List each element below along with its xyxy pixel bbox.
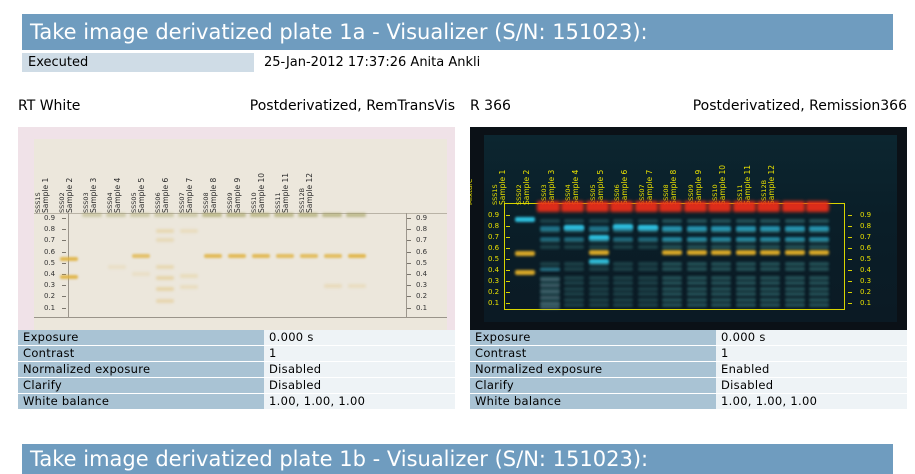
rf-tick-label: 0.3: [860, 278, 871, 285]
lane-name: Sample 10: [719, 149, 727, 205]
plate-band: [564, 267, 584, 271]
report-page: Take image derivatized plate 1a - Visual…: [0, 0, 915, 474]
plate-band: [156, 229, 174, 233]
plate-band: [564, 219, 584, 223]
plate-band: [515, 217, 535, 222]
plate-band: [760, 281, 780, 285]
parameter-value: 0.000 s: [716, 330, 907, 345]
rf-tick-label: 0.5: [416, 260, 427, 267]
plate-band: [711, 237, 731, 241]
plate-band: [711, 267, 731, 271]
rf-tick-label: 0.9: [416, 215, 427, 222]
rf-tick-mark: [407, 218, 411, 219]
plate-band: [809, 267, 829, 271]
plate-band: [687, 276, 707, 280]
plate-band: [736, 237, 756, 241]
table-row: White balance1.00, 1.00, 1.00: [470, 394, 907, 409]
panel-header-right: R 366 Postderivatized, Remission366: [470, 98, 907, 120]
plate-band: [132, 254, 150, 258]
plate-band: [760, 262, 780, 266]
plate-band: [736, 226, 756, 231]
plate-band-strip: [635, 201, 658, 212]
rf-tick-label: 0.5: [860, 256, 871, 263]
parameter-table-rt-white: Exposure0.000 sContrast1Normalized expos…: [18, 330, 455, 410]
plate-band-strip: [274, 213, 294, 217]
plate-band: [540, 226, 560, 231]
table-row: ClarifyDisabled: [470, 378, 907, 393]
rf-tick-label: 0.6: [860, 245, 871, 252]
plate-band: [785, 250, 805, 255]
rf-tick-label: 0.1: [488, 300, 499, 307]
plate-band: [589, 298, 609, 302]
plate-band: [662, 292, 682, 296]
plate-band: [687, 292, 707, 296]
plate-band: [687, 303, 707, 307]
rf-tick-mark: [407, 263, 411, 264]
plate-band: [687, 281, 707, 285]
plate-band: [736, 219, 756, 223]
plate-bottom-line: [34, 317, 447, 318]
plate-band: [785, 267, 805, 271]
plate-band: [613, 237, 633, 241]
rf-tick-label: 0.9: [488, 212, 499, 219]
plate-band: [324, 284, 342, 288]
rf-tick-mark: [407, 308, 411, 309]
parameter-value: 1: [264, 346, 455, 361]
plate-band: [711, 287, 731, 291]
plate-band: [540, 306, 560, 309]
rf-tick-mark: [506, 270, 510, 271]
plate-image-r366[interactable]: MixtureSSS1SSample 1SSS02Sample 2SSS03Sa…: [470, 127, 907, 340]
plate-band: [785, 237, 805, 241]
rf-tick-label: 0.6: [488, 245, 499, 252]
plate-band: [785, 262, 805, 266]
plate-band: [540, 284, 560, 287]
status-badge: Executed: [22, 53, 254, 72]
plate-band: [589, 303, 609, 307]
plate-band: [156, 287, 174, 291]
panel-mode-label: RT White: [18, 98, 80, 114]
plate-band: [156, 265, 174, 269]
lane-label-sample-12: SSS12BSample 12: [298, 157, 354, 213]
plate-band: [564, 281, 584, 285]
plate-band: [589, 276, 609, 280]
lane-name: Sample 12: [306, 157, 314, 213]
plate-band: [736, 267, 756, 271]
parameter-name: Contrast: [18, 346, 264, 361]
plate-band: [60, 275, 78, 279]
plate-band: [613, 226, 633, 231]
parameter-name: White balance: [18, 394, 264, 409]
rf-tick-label: 0.7: [44, 237, 55, 244]
parameter-name: White balance: [470, 394, 716, 409]
plate-band-strip: [610, 201, 633, 212]
plate-band: [809, 245, 829, 249]
plate-band: [564, 287, 584, 291]
table-row: Normalized exposureDisabled: [18, 362, 455, 377]
plate-band: [736, 292, 756, 296]
rf-tick-label: 0.1: [860, 300, 871, 307]
parameter-value: 1.00, 1.00, 1.00: [264, 394, 455, 409]
plate-band: [638, 281, 658, 285]
plate-band: [711, 281, 731, 285]
plate-band: [760, 276, 780, 280]
panel-r366: R 366 Postderivatized, Remission366 Mixt…: [470, 98, 907, 340]
lane-name: Sample 2: [66, 157, 74, 213]
plate-band: [252, 254, 270, 258]
rf-tick-label: 0.4: [416, 271, 427, 278]
plate-band: [589, 226, 609, 231]
lane-name: Sample 5: [597, 149, 605, 205]
section-title-plate-1b: Take image derivatized plate 1b - Visual…: [22, 444, 893, 474]
plate-band: [662, 226, 682, 231]
rf-tick-mark: [506, 215, 510, 216]
lane-name: Sample 4: [114, 157, 122, 213]
rf-tick-mark: [62, 240, 66, 241]
plate-band: [687, 267, 707, 271]
plate-band: [662, 267, 682, 271]
plate-band: [638, 287, 658, 291]
plate-band: [785, 292, 805, 296]
rf-tick-mark: [848, 215, 852, 216]
lane-name: Sample 5: [138, 157, 146, 213]
plate-band: [589, 281, 609, 285]
parameter-name: Exposure: [18, 330, 264, 345]
plate-band: [564, 303, 584, 307]
plate-band: [613, 303, 633, 307]
plate-band: [662, 245, 682, 249]
plate-band: [564, 226, 584, 231]
rf-tick-label: 0.4: [488, 267, 499, 274]
lane-name: Sample 12: [768, 149, 776, 205]
plate-band: [589, 262, 609, 266]
plate-band: [564, 298, 584, 302]
plate-band: [540, 290, 560, 293]
lane-name: Mixture: [470, 149, 474, 205]
plate-band: [540, 268, 560, 271]
rf-tick-mark: [62, 218, 66, 219]
plate-band: [809, 262, 829, 266]
status-row: Executed 25-Jan-2012 17:37:26 Anita Ankl…: [22, 53, 893, 72]
plate-band: [785, 281, 805, 285]
plate-band-strip: [561, 201, 584, 212]
parameter-value: 1.00, 1.00, 1.00: [716, 394, 907, 409]
plate-band: [180, 274, 198, 278]
rf-tick-label: 0.8: [488, 223, 499, 230]
parameter-name: Clarify: [18, 378, 264, 393]
lane-name: Sample 9: [695, 149, 703, 205]
plate-band-strip: [130, 213, 150, 217]
plate-band: [132, 272, 150, 276]
rf-tick-label: 0.5: [488, 256, 499, 263]
plate-band: [760, 267, 780, 271]
rf-tick-mark: [506, 292, 510, 293]
plate-band: [662, 298, 682, 302]
rf-tick-label: 0.4: [860, 267, 871, 274]
plate-band: [662, 281, 682, 285]
plate-band-strip: [684, 201, 707, 212]
plate-band: [687, 219, 707, 223]
plate-band: [638, 303, 658, 307]
lane-name: Sample 10: [258, 157, 266, 213]
plate-band: [736, 276, 756, 280]
rf-tick-label: 0.2: [44, 293, 55, 300]
rf-tick-label: 0.1: [416, 305, 427, 312]
lane-name: Sample 8: [210, 157, 218, 213]
plate-band: [785, 276, 805, 280]
rf-tick-mark: [62, 263, 66, 264]
plate-band: [785, 226, 805, 231]
panel-header-left: RT White Postderivatized, RemTransVis: [18, 98, 455, 120]
rf-tick-mark: [848, 281, 852, 282]
plate-band: [785, 219, 805, 223]
plate-band: [613, 281, 633, 285]
plate-band: [760, 219, 780, 223]
plate-band: [613, 267, 633, 271]
plate-band: [736, 303, 756, 307]
plate-band: [638, 292, 658, 296]
plate-band: [276, 254, 294, 258]
plate-band-strip: [757, 201, 780, 212]
plate-band: [711, 226, 731, 231]
plate-band: [760, 287, 780, 291]
plate-band: [515, 251, 535, 256]
plate-band-strip: [202, 213, 222, 217]
table-row: Contrast1: [18, 346, 455, 361]
rf-tick-label: 0.9: [860, 212, 871, 219]
plate-band: [760, 237, 780, 241]
rf-tick-label: 0.2: [860, 289, 871, 296]
plate-band: [638, 262, 658, 266]
plate-band: [711, 250, 731, 255]
lane-label-sample-12: SSS12BSample 12: [760, 149, 816, 205]
lane-name: Sample 2: [523, 149, 531, 205]
plate-band-strip: [154, 213, 174, 217]
plate-band: [760, 250, 780, 255]
plate-band: [687, 298, 707, 302]
plate-band: [687, 262, 707, 266]
rf-tick-label: 0.2: [416, 293, 427, 300]
rf-tick-label: 0.4: [44, 271, 55, 278]
rf-tick-mark: [848, 237, 852, 238]
plate-band-strip: [82, 213, 102, 217]
plate-band-strip: [250, 213, 270, 217]
plate-band: [711, 219, 731, 223]
plate-band: [711, 303, 731, 307]
parameter-table-r366: Exposure0.000 sContrast1Normalized expos…: [470, 330, 907, 410]
plate-band: [180, 285, 198, 289]
plate-band: [540, 262, 560, 266]
rf-tick-mark: [506, 248, 510, 249]
plate-band: [589, 237, 609, 241]
rf-tick-label: 0.6: [44, 249, 55, 256]
lane-name: Sample 1: [42, 157, 50, 213]
rf-tick-mark: [848, 303, 852, 304]
plate-band: [809, 226, 829, 231]
plate-band: [662, 287, 682, 291]
plate-band: [540, 245, 560, 249]
plate-band: [785, 303, 805, 307]
rf-tick-mark: [506, 281, 510, 282]
plate-band: [760, 226, 780, 231]
plate-band: [736, 262, 756, 266]
plate-band: [711, 292, 731, 296]
plate-band-strip: [322, 213, 342, 217]
plate-band: [785, 245, 805, 249]
rf-tick-label: 0.8: [416, 226, 427, 233]
plate-band: [180, 229, 198, 233]
plate-band: [736, 287, 756, 291]
plate-image-rt-white[interactable]: MixtureSSS1SSample 1SSS02Sample 2SSS03Sa…: [18, 127, 455, 340]
rf-tick-label: 0.5: [44, 260, 55, 267]
panel-mode-label: R 366: [470, 98, 511, 114]
lane-name: Sample 4: [572, 149, 580, 205]
plate-band: [540, 278, 560, 281]
rf-tick-mark: [506, 226, 510, 227]
plate-band: [662, 237, 682, 241]
plate-band-strip: [226, 213, 246, 217]
plate-band: [687, 226, 707, 231]
plate-band: [540, 302, 560, 305]
rf-tick-label: 0.6: [416, 249, 427, 256]
plate-band: [613, 219, 633, 223]
plate-band-strip: [537, 201, 560, 212]
plate-band: [589, 250, 609, 255]
panel-description-label: Postderivatized, Remission366: [693, 98, 907, 114]
parameter-name: Normalized exposure: [18, 362, 264, 377]
rf-tick-label: 0.7: [416, 237, 427, 244]
rf-tick-mark: [62, 308, 66, 309]
plate-band-strip: [178, 213, 198, 217]
plate-band: [589, 219, 609, 223]
plate-band: [156, 238, 174, 242]
rf-tick-mark: [407, 296, 411, 297]
plate-band: [348, 284, 366, 288]
lane-name: Sample 7: [646, 149, 654, 205]
plate-band: [662, 276, 682, 280]
plate-band: [108, 265, 126, 269]
plate-band: [736, 245, 756, 249]
rf-tick-mark: [848, 259, 852, 260]
plate-band: [540, 219, 560, 223]
plate-band: [736, 281, 756, 285]
lane-name: Sample 6: [621, 149, 629, 205]
rf-tick-mark: [407, 274, 411, 275]
rf-tick-mark: [407, 240, 411, 241]
table-row: ClarifyDisabled: [18, 378, 455, 393]
rf-tick-mark: [62, 296, 66, 297]
parameter-name: Normalized exposure: [470, 362, 716, 377]
plate-band: [760, 298, 780, 302]
plate-band: [589, 245, 609, 249]
plate-band-strip: [733, 201, 756, 212]
plate-band-strip: [586, 201, 609, 212]
lane-name: Sample 3: [90, 157, 98, 213]
panel-rt-white: RT White Postderivatized, RemTransVis Mi…: [18, 98, 455, 340]
rf-tick-mark: [407, 285, 411, 286]
plate-band: [809, 303, 829, 307]
rf-tick-mark: [62, 229, 66, 230]
plate-band: [638, 237, 658, 241]
rf-tick-label: 0.7: [488, 234, 499, 241]
table-row: Normalized exposureEnabled: [470, 362, 907, 377]
plate-band: [204, 254, 222, 258]
parameter-value: 1: [716, 346, 907, 361]
rf-tick-label: 0.3: [416, 282, 427, 289]
rf-tick-mark: [62, 285, 66, 286]
plate-band: [540, 237, 560, 241]
plate-band: [638, 226, 658, 231]
plate-band: [809, 292, 829, 296]
plate-band: [687, 245, 707, 249]
plate-band: [638, 245, 658, 249]
rf-tick-mark: [848, 248, 852, 249]
rf-tick-mark: [62, 252, 66, 253]
plate-band: [711, 262, 731, 266]
plate-band: [809, 281, 829, 285]
plate-band: [785, 298, 805, 302]
plate-band: [540, 296, 560, 299]
plate-band: [613, 262, 633, 266]
plate-band: [785, 287, 805, 291]
table-row: Contrast1: [470, 346, 907, 361]
parameter-value: Enabled: [716, 362, 907, 377]
plate-band: [638, 276, 658, 280]
panel-description-label: Postderivatized, RemTransVis: [250, 98, 455, 114]
plate-band: [760, 303, 780, 307]
table-row: Exposure0.000 s: [18, 330, 455, 345]
plate-band: [809, 219, 829, 223]
plate-band: [687, 287, 707, 291]
plate-band-strip: [346, 213, 366, 217]
plate-band: [589, 292, 609, 296]
rf-tick-mark: [407, 229, 411, 230]
rf-tick-mark: [506, 237, 510, 238]
plate-band: [348, 254, 366, 258]
rf-tick-label: 0.2: [488, 289, 499, 296]
plate-band: [564, 262, 584, 266]
plate-band: [809, 250, 829, 255]
lane-name: Sample 9: [234, 157, 242, 213]
plate-band: [662, 262, 682, 266]
plate-band: [662, 250, 682, 255]
plate-band: [589, 267, 609, 271]
plate-band: [736, 250, 756, 255]
plate-band: [662, 303, 682, 307]
plate-band: [613, 292, 633, 296]
plate-band: [711, 276, 731, 280]
plate-band: [809, 237, 829, 241]
parameter-value: Disabled: [716, 378, 907, 393]
plate-band: [300, 254, 318, 258]
plate-band: [760, 245, 780, 249]
section-title-plate-1a: Take image derivatized plate 1a - Visual…: [22, 14, 893, 50]
plate-band: [613, 287, 633, 291]
plate-band: [809, 298, 829, 302]
lane-name: Sample 8: [670, 149, 678, 205]
lane-name: Sample 11: [744, 149, 752, 205]
lane-name: Sample 1: [499, 149, 507, 205]
plate-band: [809, 276, 829, 280]
rf-tick-label: 0.9: [44, 215, 55, 222]
plate-band: [662, 219, 682, 223]
rf-tick-label: 0.8: [44, 226, 55, 233]
plate-band: [324, 254, 342, 258]
plate-band-strip: [298, 213, 318, 217]
plate-axis-left: [68, 213, 69, 318]
plate-band-strip: [708, 201, 731, 212]
plate-band: [156, 276, 174, 280]
